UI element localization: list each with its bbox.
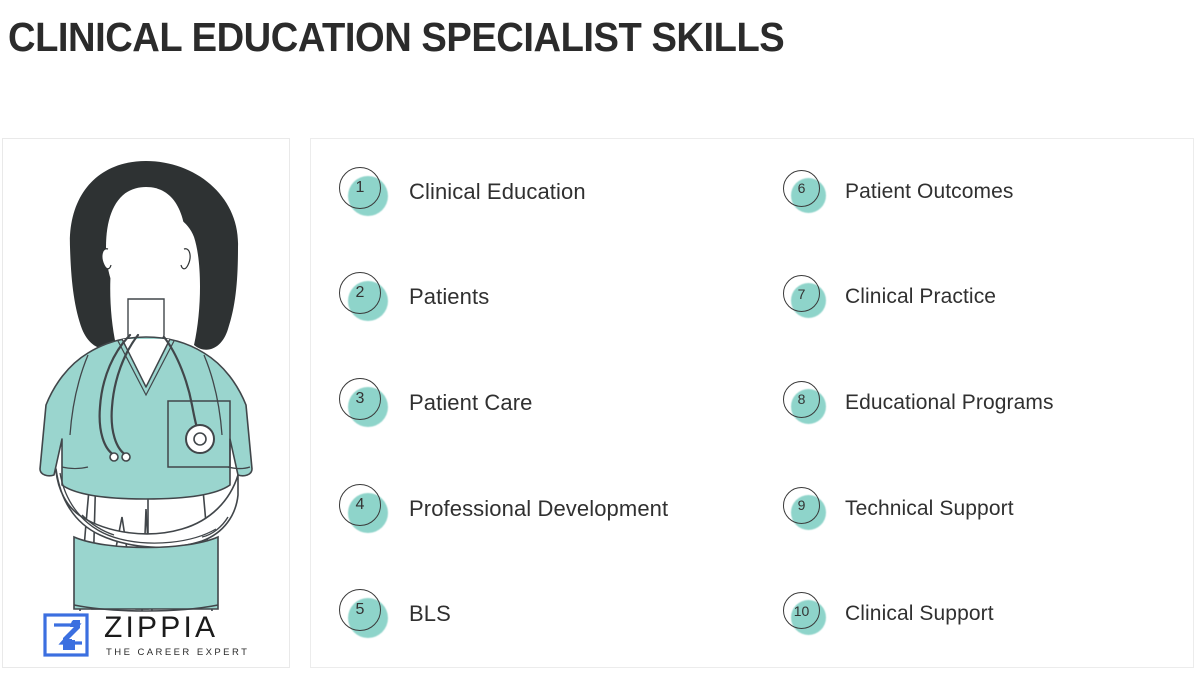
skill-number-10: 10 [783, 592, 820, 629]
skill-label-9: Technical Support [845, 497, 1014, 521]
skill-number-badge-2: 2 [339, 272, 389, 322]
skill-number-badge-3: 3 [339, 378, 389, 428]
skill-number-badge-8: 8 [783, 381, 827, 425]
skill-number-badge-4: 4 [339, 484, 389, 534]
skill-number-6: 6 [783, 170, 820, 207]
skill-item-9[interactable]: 9 Technical Support [763, 487, 1193, 531]
skill-number-3: 3 [339, 378, 381, 420]
skill-label-6: Patient Outcomes [845, 180, 1014, 204]
skill-number-badge-7: 7 [783, 275, 827, 319]
skill-label-3: Patient Care [409, 390, 533, 416]
skill-item-8[interactable]: 8 Educational Programs [763, 381, 1193, 425]
skill-item-2[interactable]: 2 Patients [311, 272, 763, 322]
skill-number-2: 2 [339, 272, 381, 314]
skill-item-10[interactable]: 10 Clinical Support [763, 592, 1193, 636]
page-title: CLINICAL EDUCATION SPECIALIST SKILLS [8, 14, 784, 61]
skill-label-7: Clinical Practice [845, 285, 996, 309]
skill-item-4[interactable]: 4 Professional Development [311, 484, 763, 534]
illustration-panel [2, 138, 290, 668]
skill-label-2: Patients [409, 284, 489, 310]
infographic-page: CLINICAL EDUCATION SPECIALIST SKILLS [0, 0, 1200, 675]
skill-number-8: 8 [783, 381, 820, 418]
skill-number-badge-1: 1 [339, 167, 389, 217]
skill-item-1[interactable]: 1 Clinical Education [311, 167, 763, 217]
logo-tagline: THE CAREER EXPERT [106, 648, 249, 658]
logo-wordmark: ZIPPIA [104, 613, 249, 643]
skill-number-badge-10: 10 [783, 592, 827, 636]
skills-panel: 1 Clinical Education 6 Patient Outcomes … [310, 138, 1194, 668]
skill-number-5: 5 [339, 589, 381, 631]
skill-item-5[interactable]: 5 BLS [311, 589, 763, 639]
skill-item-3[interactable]: 3 Patient Care [311, 378, 763, 428]
zippia-z-mark-icon [42, 612, 92, 658]
skill-item-7[interactable]: 7 Clinical Practice [763, 275, 1193, 319]
skill-label-5: BLS [409, 601, 451, 627]
skill-label-8: Educational Programs [845, 391, 1054, 415]
skill-item-6[interactable]: 6 Patient Outcomes [763, 170, 1193, 214]
logo-text: ZIPPIA THE CAREER EXPERT [104, 613, 249, 658]
skill-number-9: 9 [783, 487, 820, 524]
skill-number-badge-6: 6 [783, 170, 827, 214]
zippia-logo: ZIPPIA THE CAREER EXPERT [42, 612, 249, 658]
skill-label-10: Clinical Support [845, 602, 994, 626]
skill-label-1: Clinical Education [409, 179, 586, 205]
skill-number-4: 4 [339, 484, 381, 526]
skill-number-badge-9: 9 [783, 487, 827, 531]
skill-number-7: 7 [783, 275, 820, 312]
nurse-illustration [2, 139, 290, 639]
skill-label-4: Professional Development [409, 496, 668, 522]
skills-grid: 1 Clinical Education 6 Patient Outcomes … [311, 139, 1193, 667]
skill-number-1: 1 [339, 167, 381, 209]
skill-number-badge-5: 5 [339, 589, 389, 639]
